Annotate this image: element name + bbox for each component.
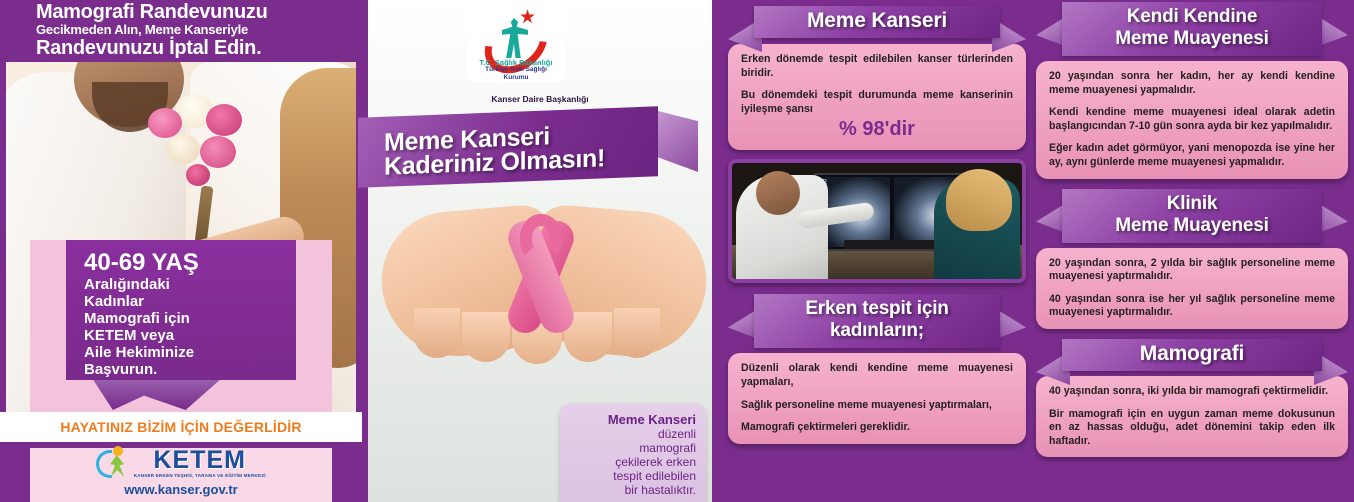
erken-tespit-paragraph-3: Mamografi çektirmeleri gereklidir. <box>741 421 1013 435</box>
center-note-line-5: bir hastalıktır. <box>570 483 696 497</box>
center-note-line-4: tespit edilebilen <box>570 469 696 483</box>
meme-kanseri-banner: Meme Kanseri <box>728 6 1026 38</box>
ketem-subtitle: KANSER ERKEN TEŞHİS, TARAMA VE EĞİTİM ME… <box>134 473 266 479</box>
erken-tespit-title-line-2: kadınların; <box>754 320 1000 342</box>
kendi-kendine-title-line-1: Kendi Kendine <box>1062 6 1322 28</box>
center-note-line-2: mamografi <box>570 441 696 455</box>
age-range-callout: 40-69 YAŞ Aralığındaki Kadınlar Mamograf… <box>66 240 296 380</box>
ketem-figure-icon <box>96 446 126 480</box>
erken-tespit-paragraph-1: Düzenli olarak kendi kendine meme muayen… <box>741 362 1013 389</box>
doctor-head <box>756 171 800 215</box>
ketem-logo: KETEM KANSER ERKEN TEŞHİS, TARAMA VE EĞİ… <box>96 446 265 480</box>
erken-tespit-banner: Erken tespit için kadınların; <box>728 294 1026 348</box>
age-range-line-2: Aralığındaki <box>84 276 296 293</box>
right-section: Meme Kanseri Erken dönemde tespit edileb… <box>718 0 1354 502</box>
ministry-caption: Kanser Daire Başkanlığı <box>362 94 718 104</box>
kendi-kendine-card: 20 yaşından sonra her kadın, her ay kend… <box>1036 61 1348 179</box>
kendi-kendine-banner: Kendi Kendine Meme Muayenesi <box>1036 2 1348 56</box>
erken-tespit-title-line-1: Erken tespit için <box>754 298 1000 320</box>
mamografi-title: Mamografi <box>1062 343 1322 365</box>
klinik-banner: Klinik Meme Muayenesi <box>1036 189 1348 243</box>
meme-kanseri-paragraph-1: Erken dönemde tespit edilebilen kanser t… <box>741 53 1013 80</box>
hands-with-ribbon-photo <box>376 190 706 380</box>
center-note-card: Meme Kanseri düzenli mamografi çekilerek… <box>560 404 706 502</box>
kendi-kendine-paragraph-1: 20 yaşından sonra her kadın, her ay kend… <box>1049 70 1335 97</box>
ribbon-loop <box>520 214 562 260</box>
klinik-title-line-2: Meme Muayenesi <box>1062 215 1322 237</box>
banner-body: Kendi Kendine Meme Muayenesi <box>1062 2 1322 56</box>
ketem-body-shape <box>110 455 124 477</box>
patient-hair <box>946 169 1012 231</box>
ketem-name: KETEM <box>134 448 266 473</box>
mamografi-paragraph-2: Bir mamografi için en uygun zaman meme d… <box>1049 408 1335 449</box>
flower-bouquet <box>146 90 258 200</box>
left-headline-block: Mamografi Randevunuzu Gecikmeden Alın, M… <box>0 0 362 62</box>
right-column: Kendi Kendine Meme Muayenesi 20 yaşından… <box>1036 2 1348 457</box>
erken-tespit-card: Düzenli olarak kendi kendine meme muayen… <box>728 353 1026 443</box>
center-note-title: Meme Kanseri <box>570 412 696 427</box>
breast-cancer-awareness-poster: Mamografi Randevunuzu Gecikmeden Alın, M… <box>0 0 1354 502</box>
age-range-line-3: Kadınlar <box>84 293 296 310</box>
age-range-line-6: Aile Hekiminize <box>84 344 296 361</box>
kendi-kendine-title-line-2: Meme Muayenesi <box>1062 28 1322 50</box>
flower-cream-2 <box>166 134 200 164</box>
headline-line-3: Randevunuzu İptal Edin. <box>36 38 362 59</box>
ministry-of-health-logo: ★ T.C. Sağlık Bakanlığı Türkiye Halk Sağ… <box>466 2 566 82</box>
banner-body: Klinik Meme Muayenesi <box>1062 189 1322 243</box>
ketem-logo-block: KETEM KANSER ERKEN TEŞHİS, TARAMA VE EĞİ… <box>0 442 362 502</box>
ketem-arc-shape <box>96 450 112 478</box>
flower-pink-1 <box>148 108 182 138</box>
keyboard <box>844 240 936 249</box>
klinik-paragraph-1: 20 yaşından sonra, 2 yılda bir sağlık pe… <box>1049 257 1335 284</box>
flower-pink-2 <box>206 104 242 136</box>
kendi-kendine-paragraph-2: Kendi kendine meme muayenesi ideal olara… <box>1049 106 1335 133</box>
meme-kanseri-card: Erken dönemde tespit edilebilen kanser t… <box>728 44 1026 150</box>
ministry-line-3: Kurumu <box>466 74 566 82</box>
ketem-url[interactable]: www.kanser.gov.tr <box>0 482 362 497</box>
ministry-line-2: Türkiye Halk Sağlığı <box>466 66 566 74</box>
age-range-line-5: KETEM veya <box>84 327 296 344</box>
klinik-paragraph-2: 40 yaşından sonra ise her yıl sağlık per… <box>1049 293 1335 320</box>
age-range-line-7: Başvurun. <box>84 361 296 378</box>
klinik-card: 20 yaşından sonra, 2 yılda bir sağlık pe… <box>1036 248 1348 329</box>
ketem-wordmark: KETEM KANSER ERKEN TEŞHİS, TARAMA VE EĞİ… <box>134 448 266 479</box>
doctor-figure <box>736 175 828 283</box>
erken-tespit-paragraph-2: Sağlık personeline meme muayenesi yaptır… <box>741 399 1013 413</box>
survival-rate-stat: % 98'dir <box>741 118 1013 141</box>
center-banner: Meme Kanseri Kaderiniz Olmasın! <box>358 106 658 188</box>
center-note-line-1: düzenli <box>570 427 696 441</box>
middle-column: Meme Kanseri Erken dönemde tespit edileb… <box>728 6 1026 444</box>
flower-bud <box>186 164 210 186</box>
mamografi-card: 40 yaşından sonra, iki yılda bir mamogra… <box>1036 376 1348 457</box>
finger-1 <box>414 308 460 358</box>
mamografi-banner: Mamografi <box>1036 339 1348 371</box>
headline-line-2: Gecikmeden Alın, Meme Kanseriyle <box>36 22 362 38</box>
finger-5 <box>614 308 660 358</box>
age-range-line-1: 40-69 YAŞ <box>84 250 296 276</box>
pink-ribbon-icon <box>496 218 586 336</box>
age-range-line-4: Mamografi için <box>84 310 296 327</box>
valued-slogan-band: HAYATINIZ BİZİM İÇİN DEĞERLİDİR <box>0 412 362 442</box>
mamografi-paragraph-1: 40 yaşından sonra, iki yılda bir mamogra… <box>1049 385 1335 399</box>
center-panel: ★ T.C. Sağlık Bakanlığı Türkiye Halk Sağ… <box>362 0 718 502</box>
banner-body: Erken tespit için kadınların; <box>754 294 1000 348</box>
ketem-head-dot <box>113 446 123 456</box>
banner-body: Meme Kanseri <box>754 6 1000 38</box>
headline-line-1: Mamografi Randevunuzu <box>36 2 362 22</box>
flower-pink-3 <box>200 136 236 168</box>
meme-kanseri-paragraph-2: Bu dönemdeki tespit durumunda meme kanse… <box>741 89 1013 116</box>
kendi-kendine-paragraph-3: Eğer kadın adet görmüyor, yani menopozda… <box>1049 142 1335 169</box>
banner-body: Mamografi <box>1062 339 1322 371</box>
center-note-line-3: çekilerek erken <box>570 455 696 469</box>
banner-title: Meme Kanseri <box>754 10 1000 32</box>
left-panel: Mamografi Randevunuzu Gecikmeden Alın, M… <box>0 0 362 502</box>
klinik-title-line-1: Klinik <box>1062 193 1322 215</box>
valued-slogan-text: HAYATINIZ BİZİM İÇİN DEĞERLİDİR <box>60 419 301 435</box>
mammogram-consultation-photo: R L <box>728 159 1026 283</box>
